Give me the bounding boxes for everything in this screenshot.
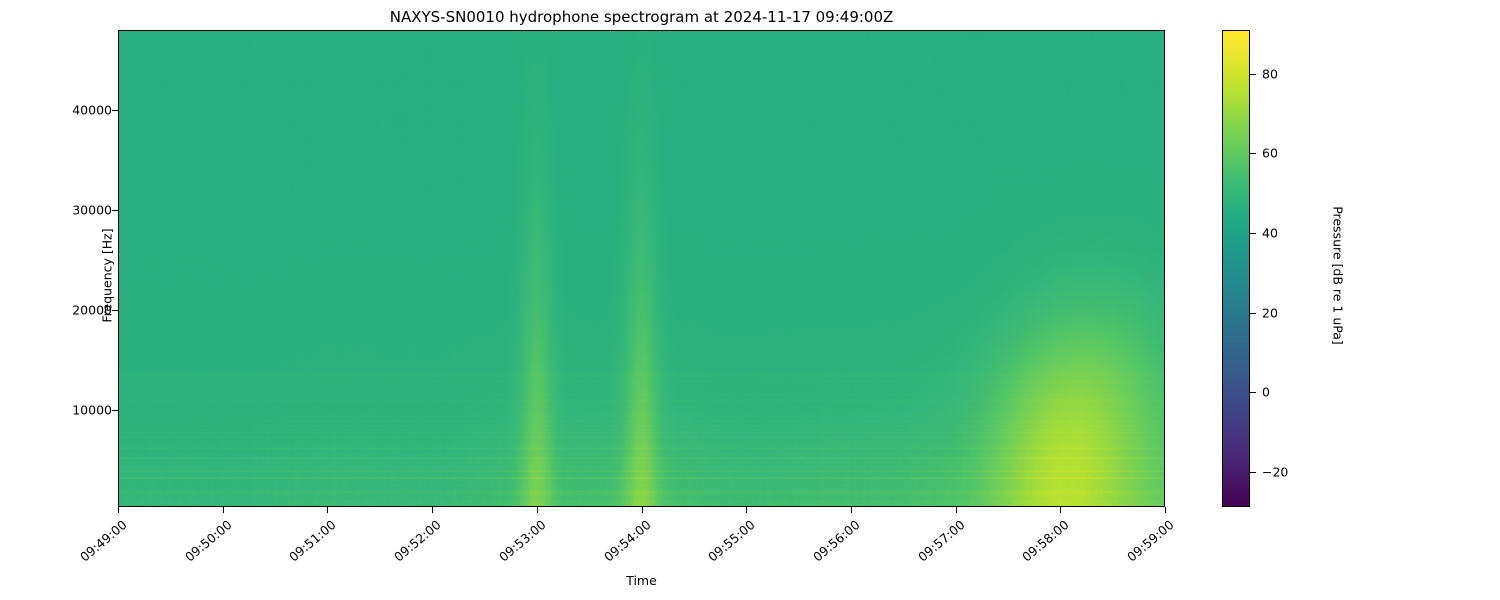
colorbar-tick-label: 60 [1262, 146, 1278, 161]
x-tick-mark [851, 507, 852, 513]
x-tick-mark [642, 507, 643, 513]
x-tick-label: 09:58:00 [1012, 517, 1072, 571]
y-tick-mark [112, 310, 118, 311]
colorbar-tick-label: −20 [1262, 464, 1288, 479]
y-tick-mark [112, 110, 118, 111]
x-tick-label: 09:55:00 [698, 517, 758, 571]
y-tick-label: 20000 [72, 303, 112, 318]
y-tick-label: 30000 [72, 203, 112, 218]
x-tick-mark [746, 507, 747, 513]
y-tick-label: 10000 [72, 403, 112, 418]
colorbar [1222, 30, 1250, 507]
colorbar-label: Pressure [dB re 1 uPa] [1331, 126, 1346, 426]
colorbar-tick-mark [1250, 472, 1256, 473]
x-tick-mark [118, 507, 119, 513]
x-tick-mark [223, 507, 224, 513]
colorbar-tick-label: 40 [1262, 226, 1278, 241]
y-axis-label: Frequency [Hz] [100, 166, 115, 386]
x-tick-label: 09:52:00 [384, 517, 444, 571]
x-tick-mark [327, 507, 328, 513]
y-tick-mark [112, 210, 118, 211]
spectrogram-plot-area [118, 30, 1165, 507]
x-tick-label: 09:59:00 [1116, 517, 1176, 571]
spectrogram-figure: NAXYS-SN0010 hydrophone spectrogram at 2… [0, 0, 1500, 600]
y-tick-label: 40000 [72, 103, 112, 118]
colorbar-tick-mark [1250, 153, 1256, 154]
x-tick-mark [432, 507, 433, 513]
x-tick-label: 09:56:00 [802, 517, 862, 571]
colorbar-tick-label: 0 [1262, 385, 1270, 400]
colorbar-tick-mark [1250, 313, 1256, 314]
spectrogram-image [119, 31, 1164, 506]
colorbar-tick-mark [1250, 233, 1256, 234]
colorbar-tick-label: 80 [1262, 66, 1278, 81]
x-tick-label: 09:49:00 [69, 517, 129, 571]
x-tick-mark [956, 507, 957, 513]
page-title: NAXYS-SN0010 hydrophone spectrogram at 2… [0, 8, 1283, 26]
x-tick-label: 09:57:00 [907, 517, 967, 571]
x-tick-mark [1060, 507, 1061, 513]
colorbar-tick-mark [1250, 392, 1256, 393]
y-tick-mark [112, 410, 118, 411]
x-tick-label: 09:53:00 [488, 517, 548, 571]
colorbar-gradient [1223, 31, 1249, 506]
colorbar-tick-label: 20 [1262, 305, 1278, 320]
x-tick-label: 09:54:00 [593, 517, 653, 571]
x-tick-mark [537, 507, 538, 513]
x-tick-mark [1165, 507, 1166, 513]
x-axis-label: Time [118, 573, 1165, 588]
x-tick-label: 09:50:00 [174, 517, 234, 571]
colorbar-tick-mark [1250, 74, 1256, 75]
x-tick-label: 09:51:00 [279, 517, 339, 571]
